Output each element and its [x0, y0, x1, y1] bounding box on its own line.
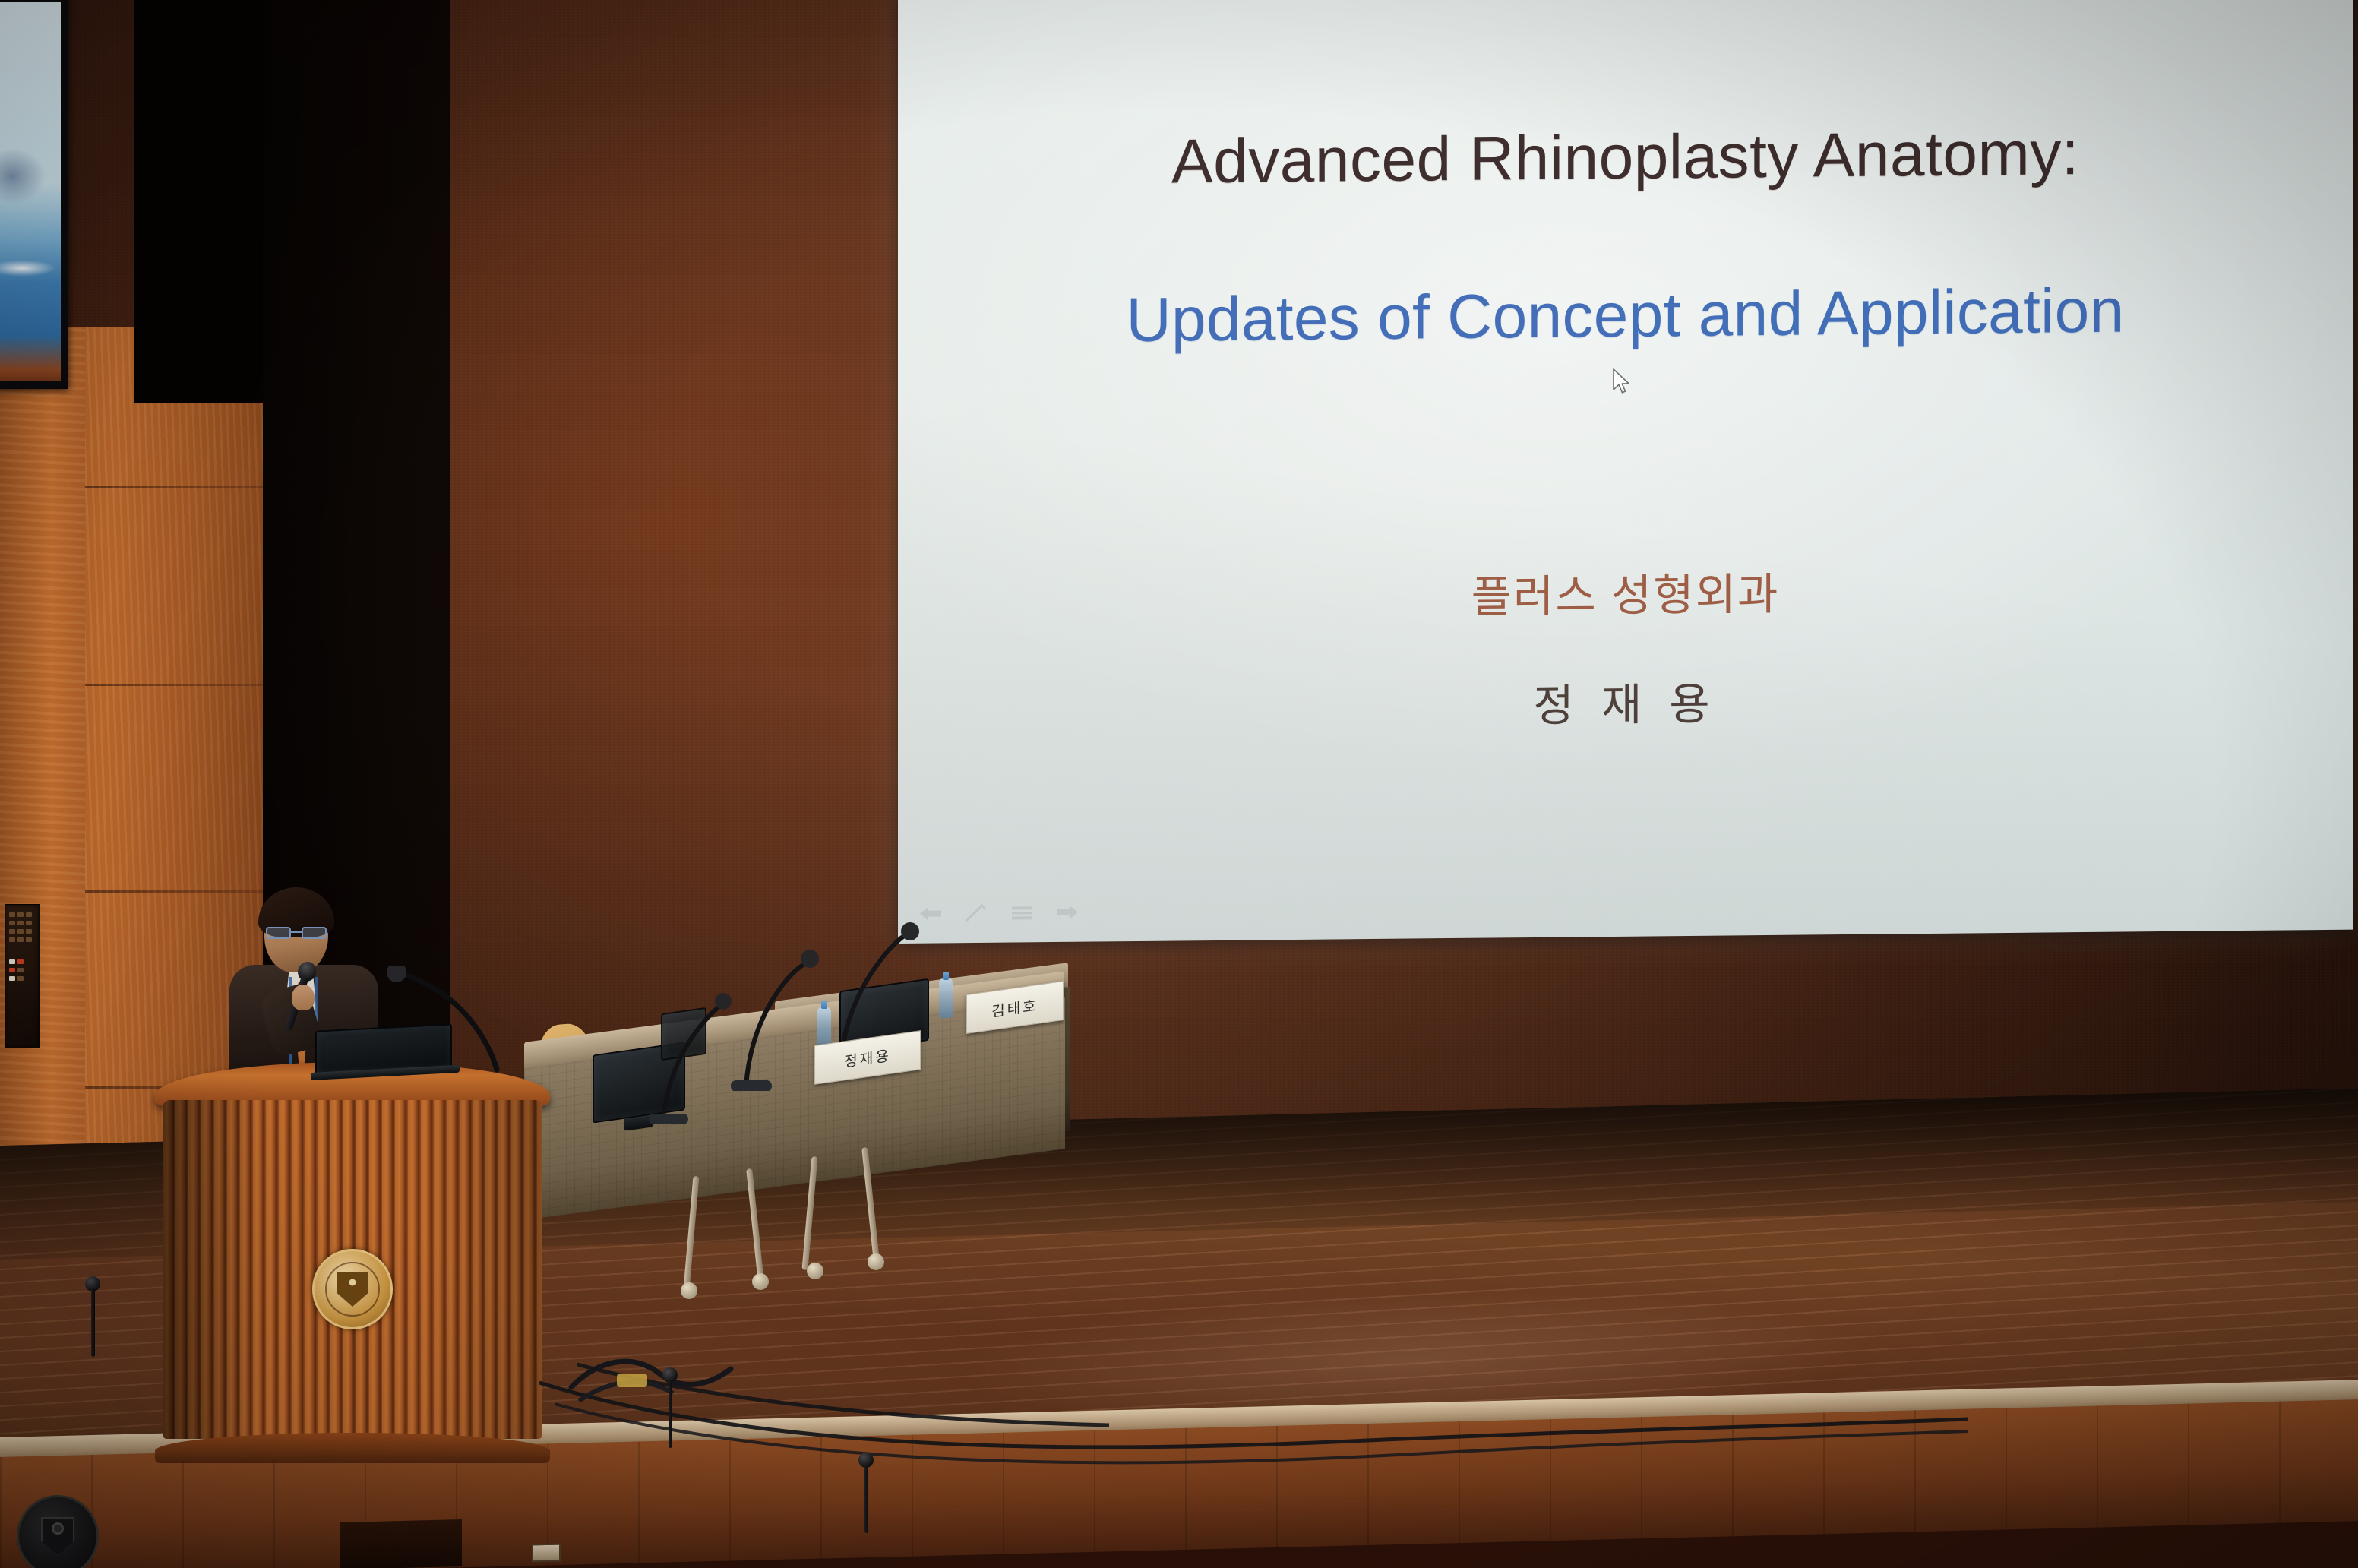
- podium-laptop: [315, 1023, 452, 1074]
- panel-microphone-1: [729, 947, 820, 1091]
- yonsei-university-crest: [312, 1249, 393, 1329]
- secondary-display: [0, 0, 68, 389]
- presenter-toolbar[interactable]: [918, 903, 1080, 924]
- speaker-hand: [292, 985, 315, 1010]
- stage-floor-socket[interactable]: [532, 1544, 561, 1563]
- cable-tangle: [562, 1314, 760, 1413]
- podium-base: [155, 1433, 550, 1463]
- lecture-hall-scene: Advanced Rhinoplasty Anatomy: Updates of…: [0, 0, 2358, 1568]
- next-arrow-icon[interactable]: [1054, 903, 1080, 922]
- pen-icon[interactable]: [963, 903, 989, 923]
- water-bottle-2: [939, 978, 953, 1018]
- projection-screen: Advanced Rhinoplasty Anatomy: Updates of…: [898, 0, 2353, 944]
- glasses-icon: [264, 927, 328, 939]
- slide-title: Advanced Rhinoplasty Anatomy:: [898, 115, 2353, 201]
- menu-icon[interactable]: [1009, 903, 1035, 922]
- stage-access-door[interactable]: [340, 1519, 462, 1568]
- slide-subtitle: Updates of Concept and Application: [898, 273, 2353, 359]
- panel-microphone-3: [647, 988, 738, 1124]
- curtain-upper: [134, 0, 270, 403]
- prev-arrow-icon[interactable]: [918, 903, 944, 923]
- wall-control-panel[interactable]: [5, 904, 40, 1048]
- mouse-cursor-arrow-icon: [1612, 368, 1632, 396]
- lectern-podium: [160, 1062, 545, 1465]
- water-glint: [0, 260, 56, 277]
